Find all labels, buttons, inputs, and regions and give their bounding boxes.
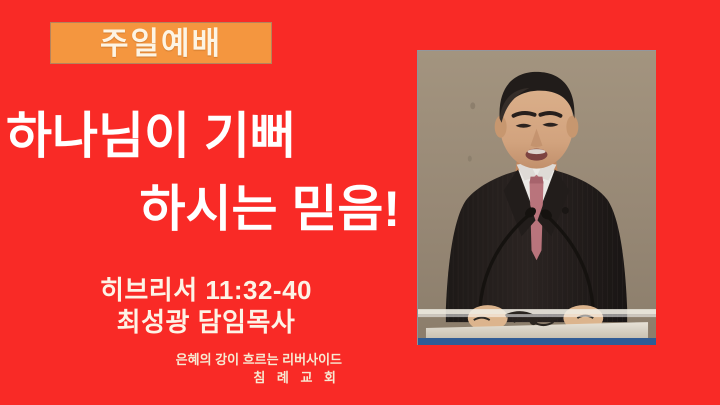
sermon-title-line-2: 하시는 믿음! <box>0 173 412 246</box>
preacher-photo <box>417 50 656 345</box>
church-name: 침 례 교 회 <box>0 369 342 387</box>
church-identity: 은혜의 강이 흐르는 리버사이드 침 례 교 회 <box>0 351 342 386</box>
sermon-title: 하나님이 기뻐 하시는 믿음! <box>0 100 412 246</box>
sermon-slide: 주일예배 하나님이 기뻐 하시는 믿음! 히브리서 11:32-40 최성광 담… <box>0 0 720 405</box>
speaker-name: 최성광 담임목사 <box>0 306 412 338</box>
sermon-title-line-1: 하나님이 기뻐 <box>0 100 412 173</box>
service-type-label: 주일예배 <box>100 28 222 59</box>
church-tagline: 은혜의 강이 흐르는 리버사이드 <box>0 351 342 369</box>
scripture-reference: 히브리서 11:32-40 <box>0 274 412 306</box>
reference-block: 히브리서 11:32-40 최성광 담임목사 <box>0 274 412 338</box>
service-type-banner: 주일예배 <box>50 22 272 64</box>
preacher-photo-illustration <box>418 51 656 345</box>
